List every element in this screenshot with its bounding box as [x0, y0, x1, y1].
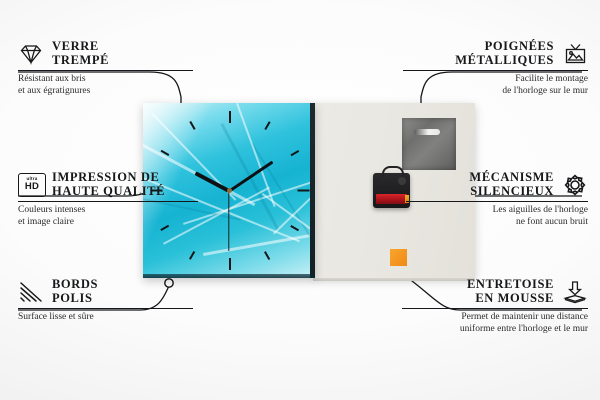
feature-title-line2: TREMPÉ	[52, 54, 109, 68]
feature-subtitle-line2: et aux égratignures	[18, 86, 193, 98]
hour-marker	[189, 121, 195, 130]
feature-title-line2: HAUTE QUALITÉ	[52, 185, 165, 199]
feature-subtitle-line1: Surface lisse et sûre	[18, 312, 193, 324]
feature-title-line2: SILENCIEUX	[406, 185, 554, 199]
feature-poignees-metalliques: POIGNÉES MÉTALLIQUES Facilite le montage…	[403, 40, 588, 97]
hour-marker	[264, 251, 270, 260]
feature-rule	[402, 308, 588, 309]
battery	[376, 194, 407, 204]
minute-hand	[228, 160, 273, 192]
feature-rule	[18, 70, 193, 71]
feature-mecanisme-silencieux: MÉCANISME SILENCIEUX Les aiguille	[406, 171, 588, 228]
feature-bords-polis: BORDS POLIS Surface lisse et sûre	[18, 278, 193, 324]
movement-knob	[398, 177, 406, 185]
ultra-hd-badge-icon: ultra HD	[18, 173, 44, 197]
feature-subtitle-line1: Résistant aux bris	[18, 74, 193, 86]
hour-marker	[229, 111, 231, 123]
feature-title-line2: MÉTALLIQUES	[403, 54, 554, 68]
feature-title-line1: IMPRESSION DE	[52, 171, 165, 185]
feature-title-line1: POIGNÉES	[403, 40, 554, 54]
feature-entretoise-en-mousse: ENTRETOISE EN MOUSSE Permet de maintenir…	[402, 278, 588, 335]
hanger-loop	[382, 166, 404, 177]
feature-subtitle-line2: ne font aucun bruit	[406, 217, 588, 229]
picture-hanger-icon	[562, 42, 588, 66]
feature-rule	[18, 201, 198, 202]
feature-subtitle-line1: Facilite le montage	[403, 74, 588, 86]
diamond-icon	[18, 42, 44, 66]
press-down-arrow-icon	[562, 280, 588, 304]
hd-badge-main-text: HD	[25, 182, 39, 192]
feature-rule	[406, 201, 588, 202]
clock-movement-box	[373, 173, 410, 208]
infographic-canvas: VERRE TREMPÉ Résistant aux bris et aux é…	[0, 0, 600, 400]
feature-rule	[18, 308, 193, 309]
second-hand	[228, 191, 229, 251]
feature-subtitle-line2: et image claire	[18, 217, 198, 229]
feature-subtitle-line1: Permet de maintenir une distance	[402, 312, 588, 324]
hour-marker	[290, 225, 299, 231]
hanger-slot	[414, 129, 440, 135]
hour-hand	[195, 171, 230, 192]
foam-spacer	[390, 249, 407, 266]
hour-marker	[189, 251, 195, 260]
feature-verre-trempe: VERRE TREMPÉ Résistant aux bris et aux é…	[18, 40, 193, 97]
hour-marker	[298, 190, 310, 192]
diagonal-lines-icon	[18, 280, 44, 304]
feature-impression-haute-qualite: ultra HD IMPRESSION DE HAUTE QUALITÉ Cou…	[18, 171, 198, 228]
hour-marker	[264, 121, 270, 130]
feature-title-line1: MÉCANISME	[406, 171, 554, 185]
hour-marker	[290, 150, 299, 156]
feature-subtitle-line1: Couleurs intenses	[18, 205, 198, 217]
feature-title-line1: ENTRETOISE	[402, 278, 554, 292]
gear-icon	[562, 173, 588, 197]
clock-center-cap	[227, 188, 232, 193]
feature-title-line1: VERRE	[52, 40, 109, 54]
feature-subtitle-line2: uniforme entre l'horloge et le mur	[402, 324, 588, 336]
feature-subtitle-line2: de l'horloge sur le mur	[403, 86, 588, 98]
metal-hanger-plate	[402, 118, 456, 170]
hour-marker	[229, 258, 231, 270]
feature-title-line1: BORDS	[52, 278, 98, 292]
feature-title-line2: POLIS	[52, 292, 98, 306]
hour-marker	[161, 150, 170, 156]
feature-subtitle-line1: Les aiguilles de l'horloge	[406, 205, 588, 217]
feature-title-line2: EN MOUSSE	[402, 292, 554, 306]
feature-rule	[403, 70, 588, 71]
